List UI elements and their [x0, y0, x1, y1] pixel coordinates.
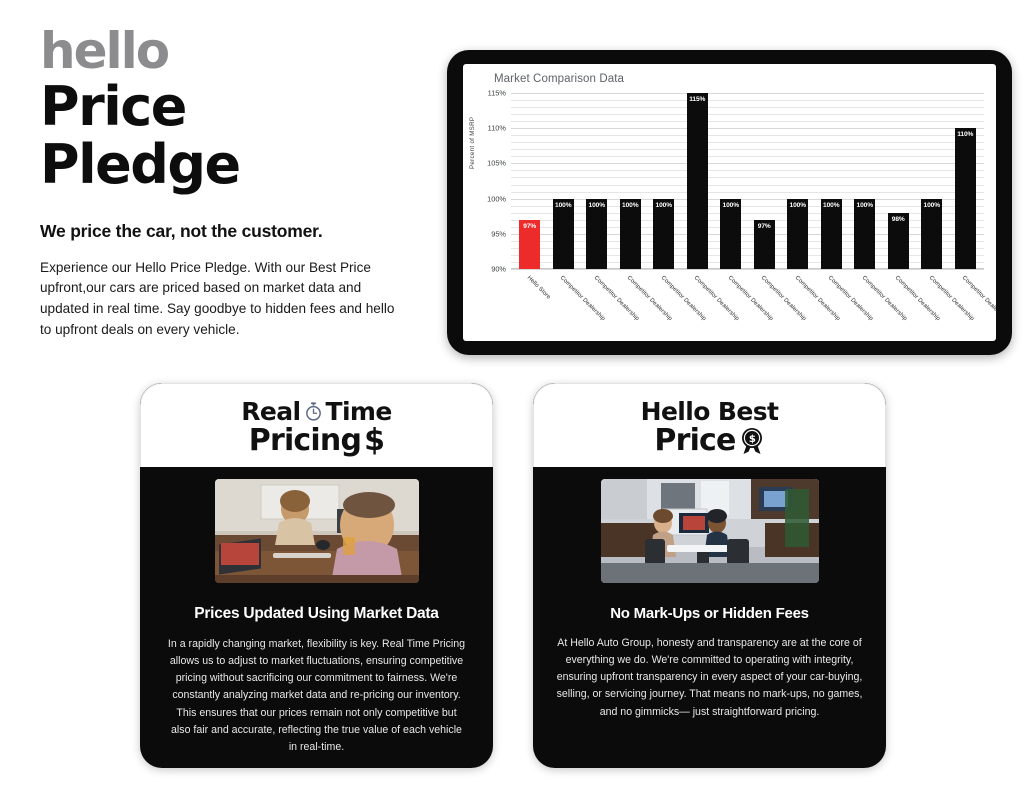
card-heading: No Mark-Ups or Hidden Fees [545, 605, 874, 622]
chart-bar[interactable]: 100% [787, 199, 808, 269]
chart-bar-slot: 100% [915, 93, 949, 269]
chart-bar-value-label: 100% [553, 202, 574, 209]
chart-x-tick-label: Competitor Dealership [961, 275, 996, 322]
chart-bar-value-label: 100% [586, 202, 607, 209]
chart-y-tick-label: 105% [487, 159, 506, 168]
card-paragraph: At Hello Auto Group, honesty and transpa… [545, 635, 874, 721]
chart-bar[interactable]: 100% [553, 199, 574, 269]
chart-bar-slot: 97% [748, 93, 782, 269]
dollar-sign-icon: $ [364, 426, 384, 456]
card-header-line2: Price $ [654, 425, 764, 457]
card-header: Real Time Pricing $ [140, 383, 493, 467]
card-header-word-time: Time [326, 399, 392, 425]
office-meeting-photo [215, 479, 419, 583]
chart-x-label-slot: Competitor Dealership [915, 273, 949, 331]
chart-bar-value-label: 100% [787, 202, 808, 209]
chart-bar[interactable]: 98% [888, 213, 909, 269]
stopwatch-icon [303, 401, 324, 422]
chart-bars: 97%100%100%100%100%115%100%97%100%100%10… [511, 93, 984, 269]
chart-bar-value-label: 100% [653, 202, 674, 209]
chart-bar[interactable]: 100% [720, 199, 741, 269]
chart-bar-slot: 110% [949, 93, 983, 269]
card-header: Hello Best Price $ [533, 383, 886, 467]
chart-bar-value-label: 100% [854, 202, 875, 209]
chart-y-tick-label: 95% [491, 229, 506, 238]
chart-x-label-slot: Competitor Dealership [882, 273, 916, 331]
brand-wordmark: hello [40, 28, 430, 74]
chart-bar-slot: 100% [647, 93, 681, 269]
chart-x-label-slot: Competitor Dealership [748, 273, 782, 331]
chart-y-tick-label: 110% [488, 124, 506, 133]
chart-x-label-slot: Competitor Dealership [580, 273, 614, 331]
card-body: No Mark-Ups or Hidden Fees At Hello Auto… [533, 467, 886, 721]
chart-bar-value-label: 97% [519, 223, 540, 230]
chart-bar-value-label: 98% [888, 216, 909, 223]
card-header-word-price: Price [654, 425, 735, 457]
chart-x-label-slot: Competitor Dealership [614, 273, 648, 331]
chart-x-label-slot: Competitor Dealership [714, 273, 748, 331]
card-header-line2: Pricing $ [249, 425, 384, 457]
card-heading: Prices Updated Using Market Data [152, 605, 481, 623]
card-hello-best-price[interactable]: Hello Best Price $ [533, 383, 886, 768]
chart-bar[interactable]: 100% [653, 199, 674, 269]
chart-bar-value-label: 100% [821, 202, 842, 209]
page-title-line1: Price [40, 78, 430, 136]
chart-bar-slot: 100% [848, 93, 882, 269]
price-pledge-page: hello Price Pledge We price the car, not… [0, 0, 1024, 804]
chart-x-label-slot: Competitor Dealership [681, 273, 715, 331]
card-header-line1: Real Time [241, 399, 391, 425]
tablet-device-frame: Market Comparison Data Percent of MSRP 9… [447, 50, 1012, 355]
hero-section: hello Price Pledge We price the car, not… [40, 28, 430, 340]
chart-bar-slot: 100% [614, 93, 648, 269]
chart-bar[interactable]: 100% [620, 199, 641, 269]
chart-bar-value-label: 100% [921, 202, 942, 209]
chart-bar-slot: 100% [547, 93, 581, 269]
chart-bar[interactable]: 110% [955, 128, 976, 269]
award-ribbon-dollar-icon: $ [739, 427, 765, 455]
chart-bar-slot: 100% [781, 93, 815, 269]
chart-x-label-slot: Competitor Dealership [647, 273, 681, 331]
card-header-line1: Hello Best [641, 399, 779, 425]
chart-bar-slot: 100% [714, 93, 748, 269]
tablet-screen: Market Comparison Data Percent of MSRP 9… [463, 64, 996, 341]
chart-title: Market Comparison Data [494, 73, 624, 85]
chart-area: Percent of MSRP 90%95%100%105%110%115% 9… [463, 91, 988, 341]
chart-bar-slot: 100% [580, 93, 614, 269]
chart-bar-value-label: 100% [620, 202, 641, 209]
chart-bar-value-label: 110% [955, 131, 976, 138]
chart-bar[interactable]: 115% [687, 93, 708, 269]
hero-body-text: Experience our Hello Price Pledge. With … [40, 258, 398, 341]
chart-bar[interactable]: 100% [921, 199, 942, 269]
chart-y-tick-label: 100% [487, 194, 506, 203]
card-header-text-hello-best: Hello Best [641, 399, 779, 425]
chart-bar-slot: 115% [681, 93, 715, 269]
chart-y-tick-label: 90% [491, 265, 506, 274]
page-title-line2: Pledge [40, 136, 430, 194]
page-title: Price Pledge [40, 78, 430, 195]
hero-subtitle: We price the car, not the customer. [40, 221, 430, 242]
chart-x-axis-labels: Hello StoreCompetitor DealershipCompetit… [511, 273, 984, 331]
chart-bar[interactable]: 97% [519, 220, 540, 269]
chart-plot: 90%95%100%105%110%115% 97%100%100%100%10… [511, 93, 984, 269]
chart-bar[interactable]: 97% [754, 220, 775, 269]
chart-bar-value-label: 100% [720, 202, 741, 209]
chart-gridline [511, 269, 984, 270]
chart-bar-slot: 97% [513, 93, 547, 269]
chart-x-label-slot: Competitor Dealership [949, 273, 983, 331]
chart-bar-slot: 100% [815, 93, 849, 269]
card-header-word-pricing: Pricing [249, 425, 361, 457]
chart-x-label-slot: Competitor Dealership [781, 273, 815, 331]
chart-bar-value-label: 115% [687, 96, 708, 103]
card-paragraph: In a rapidly changing market, flexibilit… [152, 636, 481, 756]
chart-x-label-slot: Competitor Dealership [815, 273, 849, 331]
card-body: Prices Updated Using Market Data In a ra… [140, 467, 493, 756]
chart-bar[interactable]: 100% [854, 199, 875, 269]
chart-bar-value-label: 97% [754, 223, 775, 230]
chart-bar[interactable]: 100% [821, 199, 842, 269]
dealership-showroom-photo [601, 479, 819, 583]
chart-x-label-slot: Competitor Dealership [848, 273, 882, 331]
chart-y-axis-label: Percent of MSRP [469, 117, 476, 169]
svg-text:$: $ [749, 434, 756, 445]
card-header-word-real: Real [241, 399, 300, 425]
card-real-time-pricing[interactable]: Real Time Pricing $ [140, 383, 493, 768]
chart-x-label-slot: Hello Store [513, 273, 547, 331]
chart-bar-slot: 98% [882, 93, 916, 269]
chart-y-tick-label: 115% [488, 89, 506, 98]
chart-bar[interactable]: 100% [586, 199, 607, 269]
chart-x-label-slot: Competitor Dealership [547, 273, 581, 331]
